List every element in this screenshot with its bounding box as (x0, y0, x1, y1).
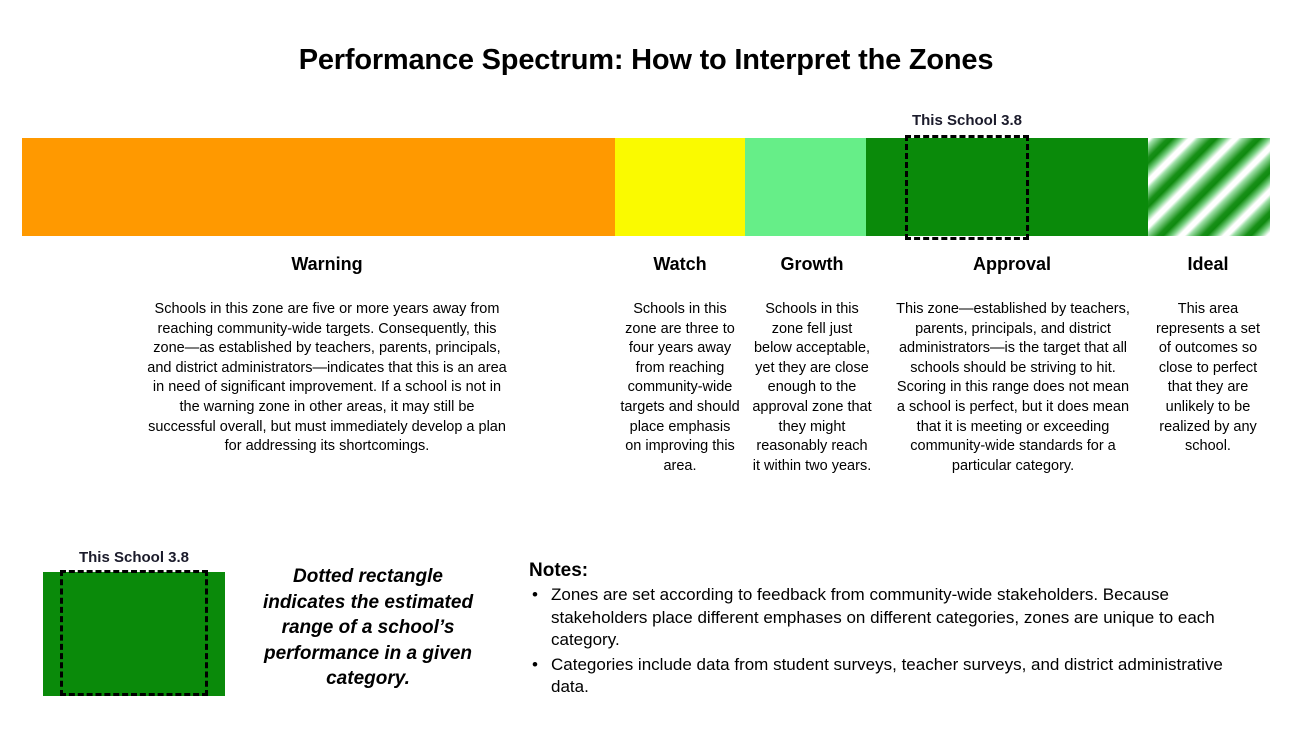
notes-heading: Notes: (529, 560, 1249, 582)
zone-name-approval: Approval (917, 254, 1107, 275)
notes-list: Zones are set according to feedback from… (529, 584, 1249, 699)
school-marker-label: This School 3.8 (885, 112, 1049, 129)
zone-name-ideal: Ideal (1148, 254, 1268, 275)
zone-description-watch: Schools in this zone are three to four y… (620, 300, 740, 476)
zone-description-growth: Schools in this zone fell just below acc… (752, 300, 872, 476)
zone-band-ideal (1148, 138, 1270, 236)
performance-spectrum-bar (22, 138, 1270, 236)
zone-name-watch: Watch (610, 254, 750, 275)
legend-dashed-rectangle (60, 570, 208, 696)
page-title: Performance Spectrum: How to Interpret t… (0, 44, 1292, 77)
zone-description-warning: Schools in this zone are five or more ye… (146, 300, 508, 457)
zone-description-ideal: This area represents a set of outcomes s… (1152, 300, 1264, 457)
zone-name-warning: Warning (232, 254, 422, 275)
note-item: Categories include data from student sur… (529, 654, 1249, 699)
zone-band-watch (615, 138, 745, 236)
notes-block: Notes: Zones are set according to feedba… (529, 560, 1249, 701)
zone-description-approval: This zone—established by teachers, paren… (893, 300, 1133, 476)
zone-name-growth: Growth (742, 254, 882, 275)
zone-band-growth (745, 138, 866, 236)
zone-band-warning (22, 138, 615, 236)
school-range-marker (905, 135, 1029, 240)
legend-caption: Dotted rectangle indicates the estimated… (252, 564, 484, 692)
legend-marker-label: This School 3.8 (54, 549, 214, 566)
note-item: Zones are set according to feedback from… (529, 584, 1249, 652)
